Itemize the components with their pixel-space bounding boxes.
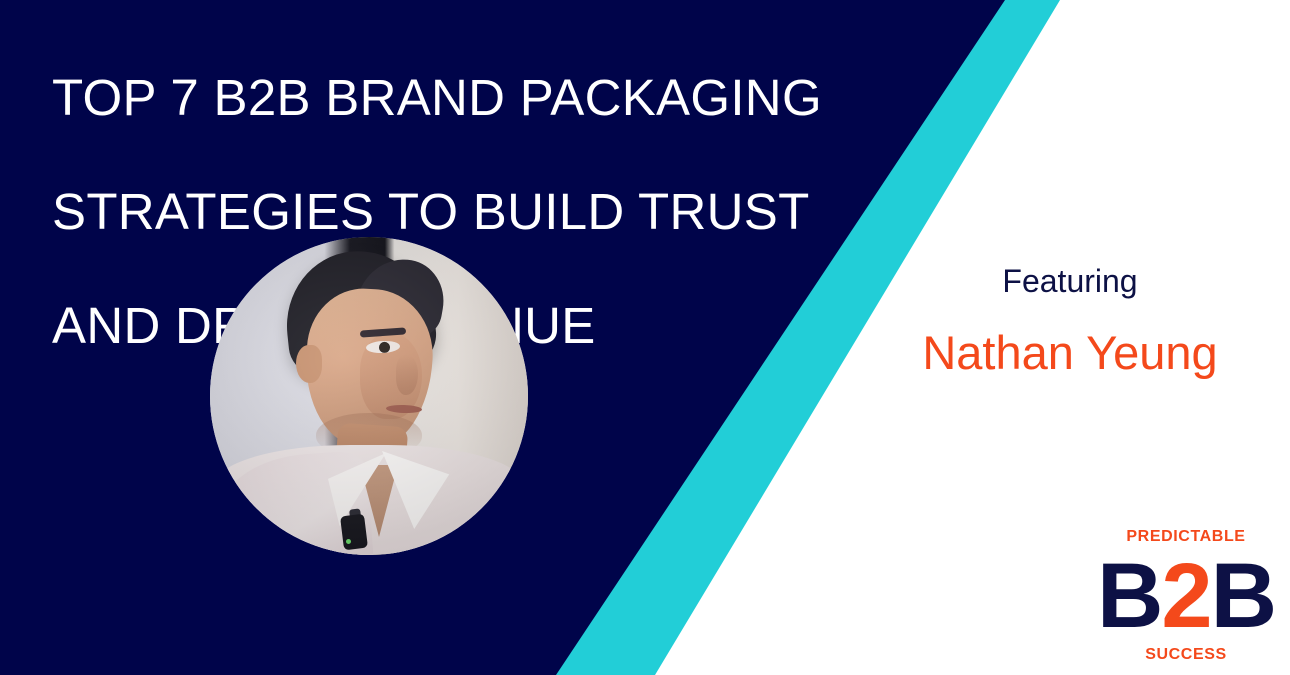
episode-title-line-1: TOP 7 B2B BRAND PACKAGING: [52, 69, 852, 126]
brand-logo-bottom-word: SUCCESS: [1088, 646, 1284, 664]
brand-logo: PREDICTABLE B2B SUCCESS: [1088, 528, 1284, 670]
brand-logo-wordmark: B2B: [1088, 546, 1284, 646]
episode-title-line-2: STRATEGIES TO BUILD TRUST: [52, 183, 852, 240]
brand-logo-digit-two: 2: [1161, 545, 1210, 647]
speaker-photo-vignette: [210, 237, 528, 555]
featuring-label: Featuring: [880, 262, 1260, 300]
speaker-name: Nathan Yeung: [860, 325, 1280, 381]
brand-logo-letter-b-first: B: [1097, 545, 1161, 647]
brand-logo-letter-b-second: B: [1211, 545, 1275, 647]
brand-logo-top-word: PREDICTABLE: [1088, 528, 1284, 546]
episode-cover-canvas: TOP 7 B2B BRAND PACKAGING STRATEGIES TO …: [0, 0, 1290, 675]
speaker-avatar: [210, 237, 528, 555]
